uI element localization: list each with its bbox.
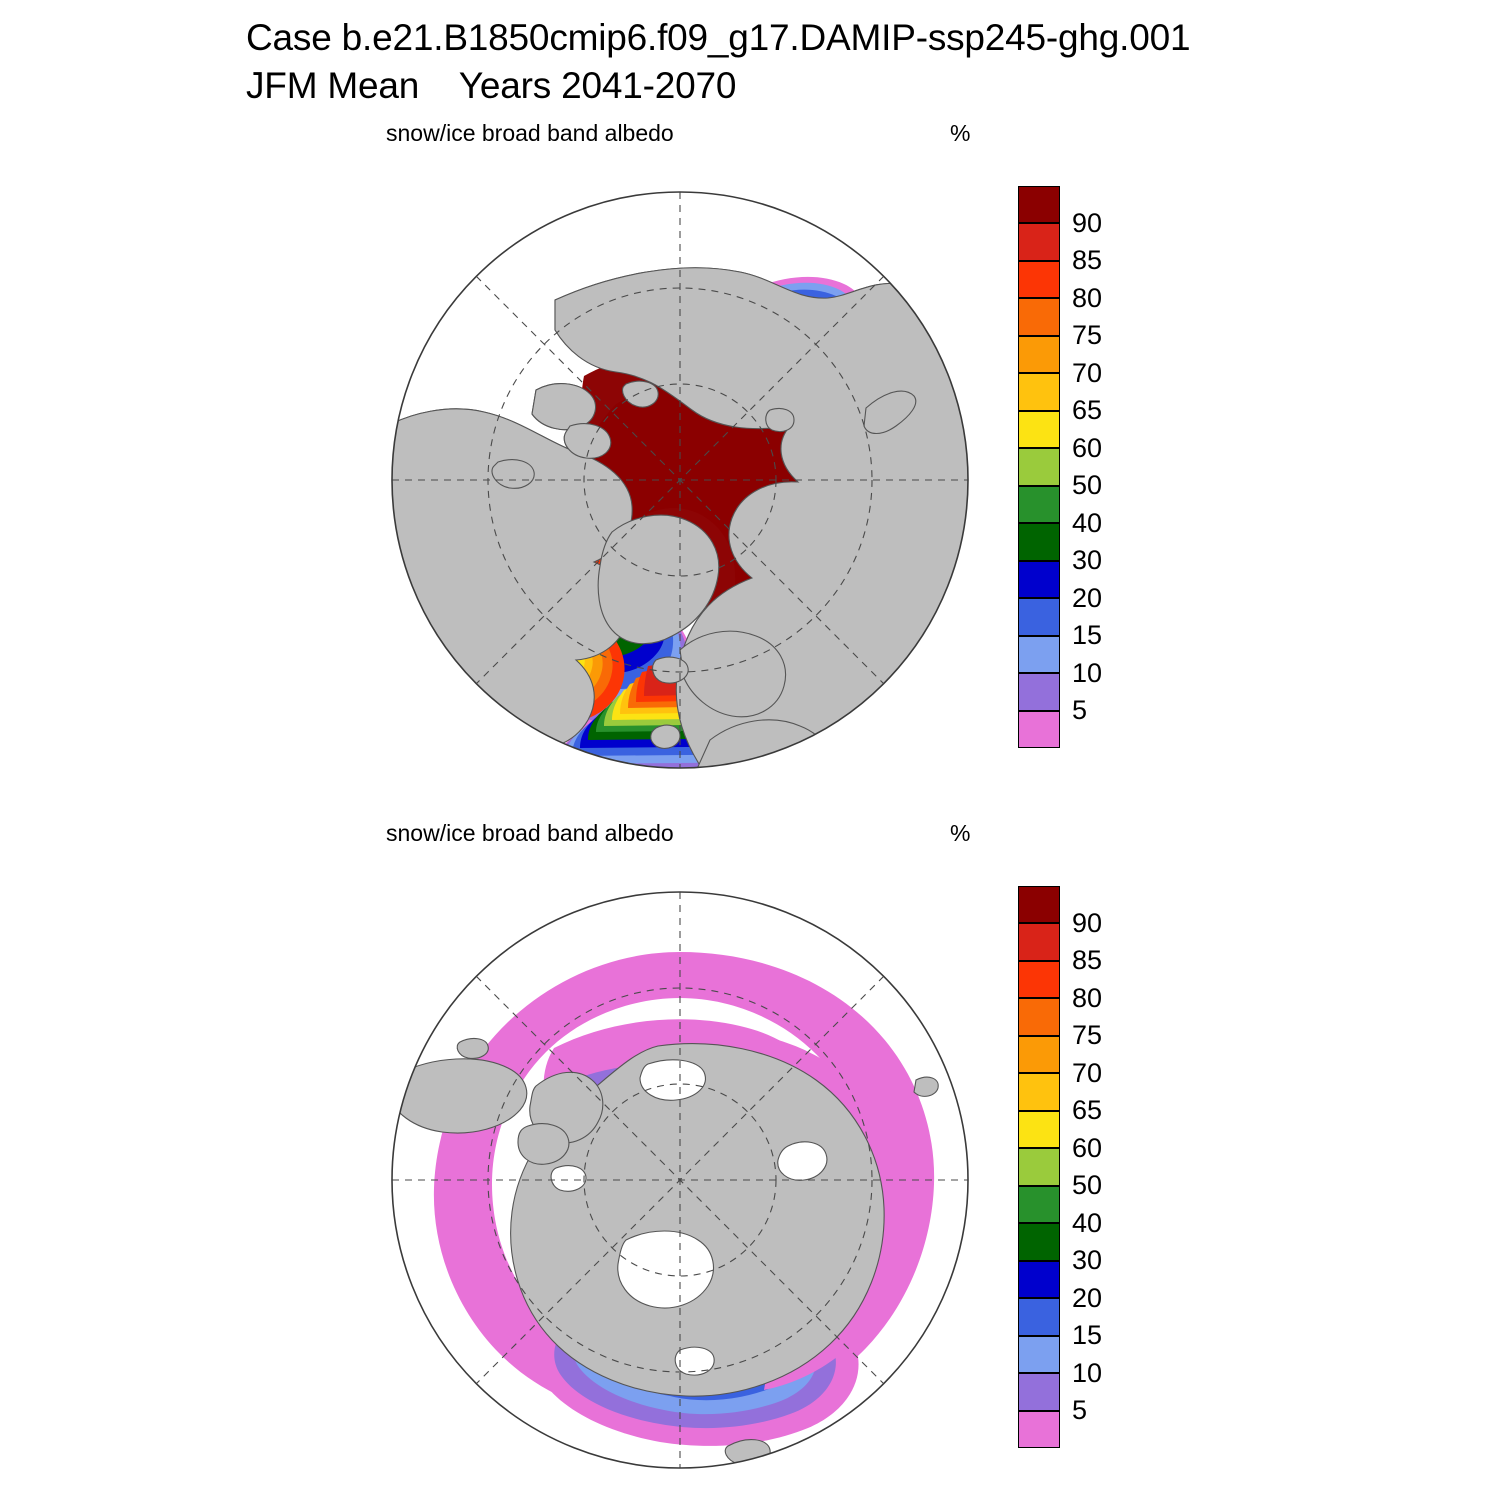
arctic-colorbar-tick-50: 50 [1072, 472, 1102, 499]
ronne-filchner-cutout [640, 1060, 705, 1100]
antarctic-colorbar-band-5[interactable] [1018, 1073, 1060, 1110]
antarctic-colorbar-tick-60: 60 [1072, 1135, 1102, 1162]
arctic-colorbar-tick-80: 80 [1072, 285, 1102, 312]
arctic-unit-label: % [950, 120, 970, 147]
antarctic-colorbar-tick-10: 10 [1072, 1360, 1102, 1387]
antarctic-colorbar-tick-50: 50 [1072, 1172, 1102, 1199]
antarctic-colorbar-band-13[interactable] [1018, 1373, 1060, 1410]
arctic-colorbar-tick-65: 65 [1072, 397, 1102, 424]
antarctic-colorbar-band-2[interactable] [1018, 961, 1060, 998]
antarctic-colorbar-tick-75: 75 [1072, 1022, 1102, 1049]
arctic-colorbar-tick-5: 5 [1072, 697, 1087, 724]
shelf-cutout-s [675, 1347, 714, 1375]
arctic-colorbar-band-5[interactable] [1018, 373, 1060, 410]
antarctic-colorbar-tick-90: 90 [1072, 910, 1102, 937]
shelf-cutout-w [551, 1166, 586, 1192]
antarctic-colorbar-tick-70: 70 [1072, 1060, 1102, 1087]
island-iceland-overlay [653, 657, 689, 683]
antarctic-colorbar-tick-20: 20 [1072, 1285, 1102, 1312]
arctic-map-svg[interactable] [380, 180, 980, 780]
antarctic-colorbar-band-7[interactable] [1018, 1148, 1060, 1185]
arctic-subtitle-row: snow/ice broad band albedo % [386, 120, 1006, 150]
peninsula-lower [518, 1124, 569, 1165]
arctic-map-panel[interactable] [380, 180, 980, 780]
arctic-variable-label: snow/ice broad band albedo [386, 120, 674, 147]
arctic-colorbar-band-4[interactable] [1018, 336, 1060, 373]
arctic-colorbar[interactable]: 908580757065605040302015105 [1018, 186, 1138, 748]
antarctic-colorbar-band-8[interactable] [1018, 1186, 1060, 1223]
arctic-colorbar-tick-40: 40 [1072, 510, 1102, 537]
antarctic-colorbar-band-14[interactable] [1018, 1411, 1060, 1448]
arctic-colorbar-band-8[interactable] [1018, 486, 1060, 523]
arctic-colorbar-tick-30: 30 [1072, 547, 1102, 574]
arctic-colorbar-tick-60: 60 [1072, 435, 1102, 462]
arctic-colorbar-band-10[interactable] [1018, 561, 1060, 598]
antarctic-colorbar-band-11[interactable] [1018, 1298, 1060, 1335]
arctic-colorbar-tick-75: 75 [1072, 322, 1102, 349]
antarctic-colorbar-band-9[interactable] [1018, 1223, 1060, 1260]
island-svalbard-overlay [766, 408, 794, 431]
island-british-isles-overlay [651, 725, 680, 748]
antarctic-colorbar-band-0[interactable] [1018, 886, 1060, 923]
antarctic-colorbar[interactable]: 908580757065605040302015105 [1018, 886, 1138, 1448]
arctic-colorbar-band-11[interactable] [1018, 598, 1060, 635]
figure-title: Case b.e21.B1850cmip6.f09_g17.DAMIP-ssp2… [246, 14, 1486, 110]
arctic-colorbar-tick-85: 85 [1072, 247, 1102, 274]
arctic-colorbar-band-1[interactable] [1018, 223, 1060, 260]
arctic-colorbar-band-0[interactable] [1018, 186, 1060, 223]
antarctic-colorbar-band-1[interactable] [1018, 923, 1060, 960]
antarctic-colorbar-band-6[interactable] [1018, 1111, 1060, 1148]
antarctic-unit-label: % [950, 820, 970, 847]
arctic-colorbar-band-9[interactable] [1018, 523, 1060, 560]
island-falklands [457, 1039, 488, 1059]
antarctic-colorbar-tick-40: 40 [1072, 1210, 1102, 1237]
arctic-colorbar-band-14[interactable] [1018, 711, 1060, 748]
antarctic-colorbar-band-3[interactable] [1018, 998, 1060, 1035]
title-line-2: JFM Mean Years 2041-2070 [246, 62, 1486, 110]
arctic-colorbar-tick-10: 10 [1072, 660, 1102, 687]
island-small-e1 [932, 626, 954, 643]
antarctic-colorbar-tick-15: 15 [1072, 1322, 1102, 1349]
island-se-1 [914, 1077, 938, 1096]
arctic-colorbar-band-7[interactable] [1018, 448, 1060, 485]
arctic-colorbar-band-13[interactable] [1018, 673, 1060, 710]
arctic-colorbar-tick-15: 15 [1072, 622, 1102, 649]
arctic-colorbar-band-2[interactable] [1018, 261, 1060, 298]
island-small-e1-overlay [932, 626, 954, 643]
antarctic-map-panel[interactable] [380, 880, 980, 1480]
antarctic-colorbar-band-12[interactable] [1018, 1336, 1060, 1373]
antarctic-colorbar-tick-65: 65 [1072, 1097, 1102, 1124]
arctic-colorbar-band-12[interactable] [1018, 636, 1060, 673]
antarctic-colorbar-tick-5: 5 [1072, 1397, 1087, 1424]
arctic-colorbar-band-6[interactable] [1018, 411, 1060, 448]
antarctic-colorbar-tick-85: 85 [1072, 947, 1102, 974]
antarctic-colorbar-band-10[interactable] [1018, 1261, 1060, 1298]
island-ellesmere-overlay [532, 384, 596, 430]
antarctic-colorbar-tick-30: 30 [1072, 1247, 1102, 1274]
antarctic-map-svg[interactable] [380, 880, 980, 1480]
antarctic-colorbar-tick-80: 80 [1072, 985, 1102, 1012]
antarctic-subtitle-row: snow/ice broad band albedo % [386, 820, 1006, 850]
title-line-1: Case b.e21.B1850cmip6.f09_g17.DAMIP-ssp2… [246, 14, 1486, 62]
antarctic-colorbar-band-4[interactable] [1018, 1036, 1060, 1073]
arctic-colorbar-tick-20: 20 [1072, 585, 1102, 612]
arctic-content [380, 192, 980, 780]
arctic-colorbar-tick-70: 70 [1072, 360, 1102, 387]
ross-ice-shelf-cutout [618, 1231, 714, 1308]
arctic-colorbar-tick-90: 90 [1072, 210, 1102, 237]
arctic-colorbar-band-3[interactable] [1018, 298, 1060, 335]
antarctic-variable-label: snow/ice broad band albedo [386, 820, 674, 847]
